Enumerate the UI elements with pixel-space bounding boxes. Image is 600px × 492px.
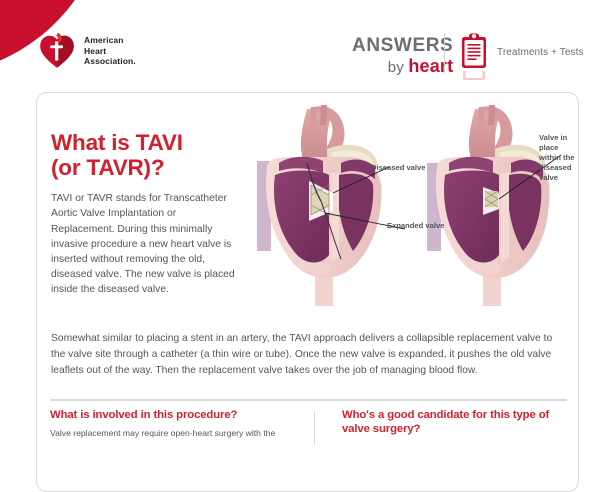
bottom-section-procedure: What is involved in this procedure? Valv… [50, 409, 322, 440]
bottom-section-body: Valve replacement may require open-heart… [50, 427, 304, 439]
aha-heart-torch-logo-icon [37, 31, 77, 71]
page-header: American Heart Association. ANSWERS by h… [0, 0, 600, 92]
heart-cross-section-with-expanded-valve-illustration [249, 101, 409, 306]
label-valve-in-place: Valve in place within the diseased valve [539, 133, 599, 183]
label-expanded-valve: Expanded valve [387, 221, 444, 231]
wide-paragraph: Somewhat similar to placing a stent in a… [51, 331, 566, 378]
content-card: What is TAVI (or TAVR)? TAVI or TAVR sta… [36, 92, 579, 492]
aha-wordmark: American Heart Association. [84, 35, 136, 66]
answers-by-word: by [388, 59, 404, 76]
heart-cross-section-with-valve-in-place-illustration [423, 101, 568, 306]
heart-illustration-area: Diseased valve Expanded valve Valve in p… [227, 101, 567, 313]
bottom-sections: What is involved in this procedure? Valv… [50, 409, 567, 440]
bottom-section-candidate: Who's a good candidate for this type of … [322, 409, 567, 440]
bottom-section-heading: What is involved in this procedure? [50, 409, 304, 423]
clipboard-icon [460, 33, 488, 69]
bottom-section-heading: Who's a good candidate for this type of … [342, 409, 567, 436]
clipboard-icon-reflection [462, 71, 486, 81]
label-diseased-valve: Diseased valve [371, 163, 425, 173]
intro-paragraph: TAVI or TAVR stands for Transcatheter Ao… [51, 191, 237, 297]
header-vertical-divider [444, 33, 445, 73]
answers-heart-word: heart [408, 56, 453, 76]
answers-by-heart-branding: ANSWERS by heart [352, 36, 453, 75]
bottom-columns-divider [314, 411, 315, 445]
category-label: Treatments + Tests [497, 47, 584, 58]
section-divider [50, 399, 567, 401]
answers-title: ANSWERS [352, 36, 453, 55]
aha-logo: American Heart Association. [37, 31, 136, 71]
answers-subtitle: by heart [352, 57, 453, 75]
